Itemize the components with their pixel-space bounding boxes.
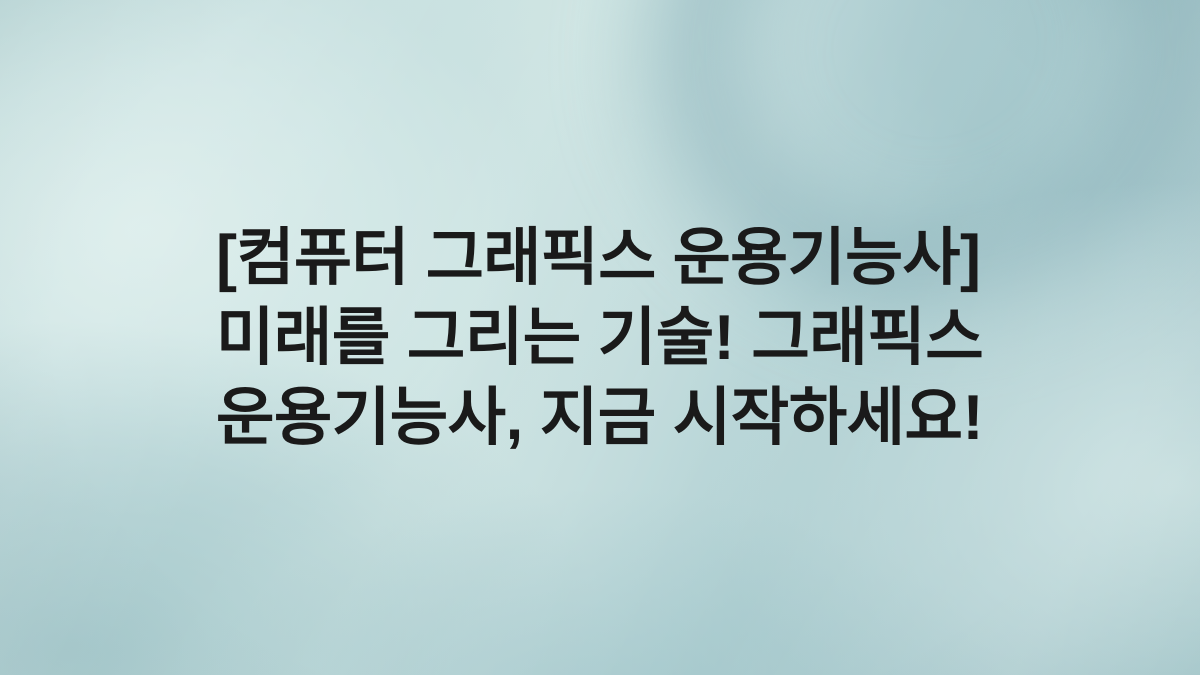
headline-line-1: [컴퓨터 그래픽스 운용기능사] [216, 218, 981, 298]
headline-line-2: 미래를 그리는 기술! 그래픽스 [216, 298, 983, 378]
headline-block: [컴퓨터 그래픽스 운용기능사] 미래를 그리는 기술! 그래픽스 운용기능사,… [216, 0, 1020, 675]
blog-thumbnail-banner: [컴퓨터 그래픽스 운용기능사] 미래를 그리는 기술! 그래픽스 운용기능사,… [0, 0, 1200, 675]
headline-line-3: 운용기능사, 지금 시작하세요! [216, 378, 983, 458]
